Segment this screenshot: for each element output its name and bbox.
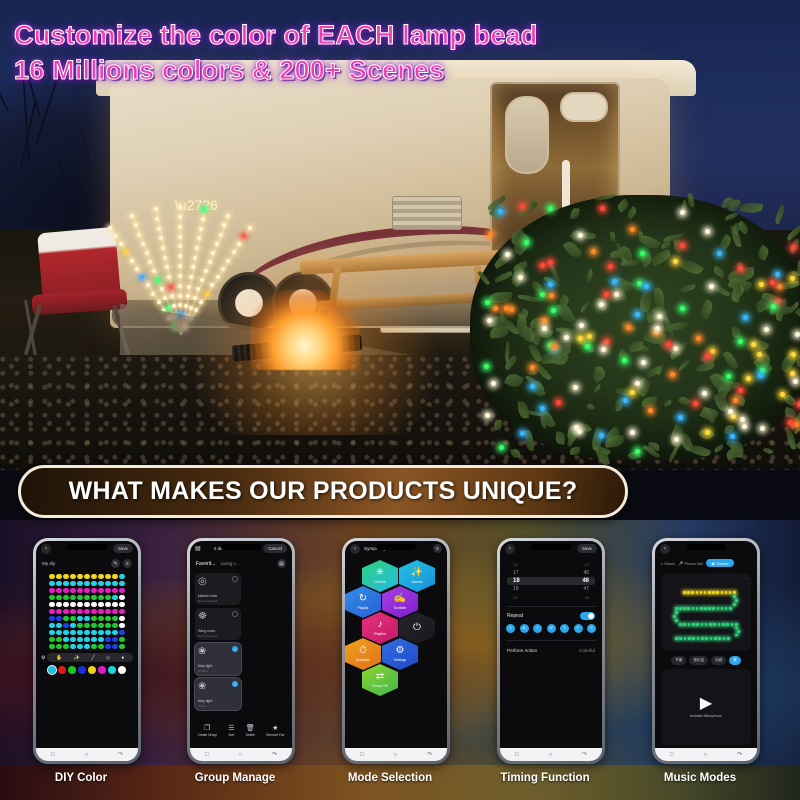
led-dot[interactable]	[119, 595, 124, 600]
led-dot[interactable]	[63, 581, 68, 586]
diy-title-row: My diy ✎ ≡	[36, 556, 138, 570]
nav-recent-icon[interactable]: □	[670, 752, 674, 758]
led-dot[interactable]	[112, 630, 117, 635]
led-dot[interactable]	[56, 602, 61, 607]
nav-home-icon[interactable]: ○	[393, 752, 397, 758]
led-dot[interactable]	[77, 630, 82, 635]
hex-settings[interactable]: ⚙Settings	[382, 638, 418, 670]
led-dot-row[interactable]	[49, 623, 124, 628]
tree-light-bulb	[141, 242, 145, 246]
action-create-group[interactable]: ❐Create Group	[198, 724, 217, 737]
nav-home-icon[interactable]: ○	[548, 752, 552, 758]
group-action-bar[interactable]: ❐Create Group☰Sort🗑Delete★Remove Fav	[190, 721, 292, 740]
led-dot-row[interactable]	[49, 588, 124, 593]
led-dot[interactable]	[56, 637, 61, 642]
led-dot[interactable]	[98, 581, 103, 586]
nav-home-icon[interactable]: ○	[703, 752, 707, 758]
led-dot[interactable]	[63, 644, 68, 649]
led-dot[interactable]	[119, 644, 124, 649]
hex-power[interactable]: ⏻	[399, 612, 435, 644]
led-dot[interactable]	[70, 574, 75, 579]
hex-playlist[interactable]: ↻Playlist	[345, 586, 381, 618]
led-dot[interactable]	[49, 602, 54, 607]
led-dot[interactable]	[84, 630, 89, 635]
led-dot[interactable]	[63, 595, 68, 600]
led-pixel	[688, 637, 691, 640]
cancel-button[interactable]: Cancel	[263, 544, 287, 553]
android-navbar[interactable]: □ ○ ↷	[655, 748, 757, 761]
led-dot[interactable]	[105, 609, 110, 614]
grid-options-icon[interactable]: ⋯	[743, 576, 748, 582]
weekday-chip[interactable]: F	[574, 624, 583, 633]
led-dot[interactable]	[105, 623, 110, 628]
string-light-bulb	[520, 431, 525, 436]
led-dot-grid[interactable]	[36, 570, 138, 651]
led-dot[interactable]	[49, 637, 54, 642]
led-pixel	[731, 623, 734, 626]
led-dot[interactable]	[77, 602, 82, 607]
led-dot-row[interactable]	[49, 609, 124, 614]
music-tab-phone-mic[interactable]: 🎤Phone Mic	[678, 561, 703, 566]
device-card-list[interactable]: ◎kitchen bulbNot connected☸living roomNo…	[190, 571, 292, 712]
led-dot[interactable]	[84, 574, 89, 579]
led-dot[interactable]	[56, 595, 61, 600]
music-tab-music[interactable]: ♫Music	[660, 561, 675, 566]
led-dot[interactable]	[84, 588, 89, 593]
led-dot[interactable]	[105, 630, 110, 635]
led-dot[interactable]	[70, 581, 75, 586]
led-dot[interactable]	[56, 588, 61, 593]
led-dot[interactable]	[105, 637, 110, 642]
device-checkbox[interactable]: ✓	[232, 646, 238, 652]
led-dot[interactable]	[49, 630, 54, 635]
led-dot[interactable]	[84, 595, 89, 600]
led-dot[interactable]	[105, 574, 110, 579]
led-dot[interactable]	[112, 574, 117, 579]
led-dot[interactable]	[105, 616, 110, 621]
led-dot[interactable]	[84, 609, 89, 614]
led-dot[interactable]	[105, 644, 110, 649]
hex-schedule[interactable]: ⏱Schedule	[345, 638, 381, 670]
nav-back-icon[interactable]: ↷	[118, 751, 123, 758]
led-dot[interactable]	[63, 574, 68, 579]
led-pixel	[675, 607, 678, 610]
led-dot[interactable]	[77, 588, 82, 593]
menu-icon[interactable]: ≡	[433, 544, 442, 553]
led-dot[interactable]	[112, 588, 117, 593]
led-pixel	[684, 637, 687, 640]
led-dot[interactable]	[91, 616, 96, 621]
hex-scribble[interactable]: ✍Scribble	[382, 586, 418, 618]
music-chip[interactable]: 音乐结	[689, 656, 708, 665]
weekday-selector[interactable]: SMTWTFS	[500, 622, 602, 637]
led-dot[interactable]	[119, 616, 124, 621]
menu-icon[interactable]: ≡	[123, 559, 132, 568]
picker-row-next[interactable]: 19 47	[507, 585, 595, 593]
string-light-bulb	[549, 293, 554, 298]
led-dot[interactable]	[91, 637, 96, 642]
picker-row-prev[interactable]: 17 45	[507, 568, 595, 576]
tree-light-bulb	[208, 260, 212, 264]
led-dot[interactable]	[91, 595, 96, 600]
tool-icon[interactable]: ✨	[74, 655, 80, 661]
string-light-bulb	[655, 326, 660, 331]
led-dot[interactable]	[77, 637, 82, 642]
music-chip[interactable]: 柔	[729, 656, 741, 665]
weekday-chip[interactable]: S	[506, 624, 515, 633]
led-dot[interactable]	[119, 609, 124, 614]
led-dot[interactable]	[70, 644, 75, 649]
led-dot[interactable]	[70, 623, 75, 628]
led-pixel	[701, 623, 704, 626]
nav-recent-icon[interactable]: □	[360, 752, 364, 758]
repeat-toggle[interactable]	[580, 612, 595, 620]
led-dot[interactable]	[77, 609, 82, 614]
string-light-bulb	[710, 349, 715, 354]
weekday-chip[interactable]: W	[547, 624, 556, 633]
back-icon[interactable]: ‹	[350, 544, 360, 554]
led-dot[interactable]	[91, 623, 96, 628]
weekday-chip[interactable]: T	[533, 624, 542, 633]
nav-home-icon[interactable]: ○	[238, 752, 242, 758]
nav-back-icon[interactable]: ↷	[737, 751, 742, 758]
bush-leaf	[586, 269, 595, 282]
device-checkbox[interactable]	[232, 576, 238, 582]
tab-living-room[interactable]: Living r...	[220, 561, 238, 566]
led-dot[interactable]	[49, 623, 54, 628]
edit-icon[interactable]: ✎	[111, 559, 120, 568]
led-dot[interactable]	[84, 602, 89, 607]
led-dot[interactable]	[56, 644, 61, 649]
led-dot[interactable]	[112, 616, 117, 621]
led-dot[interactable]	[84, 637, 89, 642]
led-dot[interactable]	[84, 581, 89, 586]
section-banner-wrap: WHAT MAKES OUR PRODUCTS UNIQUE?	[0, 455, 800, 535]
led-pixel	[735, 599, 738, 602]
led-dot[interactable]	[77, 595, 82, 600]
headline-line-1: Customize the color of EACH lamp bead	[14, 18, 537, 53]
nav-recent-icon[interactable]: □	[51, 752, 55, 758]
led-dot[interactable]	[91, 581, 96, 586]
led-dot[interactable]	[56, 609, 61, 614]
string-light-bulb	[771, 304, 776, 309]
tab-icon: ♫	[660, 561, 663, 566]
string-light-bulb	[726, 374, 731, 379]
music-mode-chips[interactable]: 节奏音乐结动感柔	[655, 654, 757, 667]
nav-recent-icon[interactable]: □	[515, 752, 519, 758]
hex-colorful[interactable]: ✳Colorful	[362, 560, 398, 592]
activate-microphone-panel[interactable]: ▶ Activate Microphone	[661, 669, 751, 745]
led-dot[interactable]	[119, 637, 124, 642]
led-dot[interactable]	[77, 623, 82, 628]
led-dot[interactable]	[49, 574, 54, 579]
color-swatch[interactable]	[108, 666, 116, 674]
color-swatch[interactable]	[98, 666, 106, 674]
led-dot[interactable]	[56, 630, 61, 635]
led-pixel	[716, 591, 719, 594]
hex-rhythm[interactable]: ♪Rhythm	[362, 612, 398, 644]
led-dot[interactable]	[98, 637, 103, 642]
led-dot[interactable]	[91, 630, 96, 635]
color-swatch[interactable]	[48, 666, 56, 674]
led-dot[interactable]	[70, 637, 75, 642]
led-dot[interactable]	[49, 616, 54, 621]
led-dot-row[interactable]	[49, 581, 124, 586]
string-light-bulb	[499, 445, 504, 450]
string-light-bulb	[540, 263, 545, 268]
led-dot-row[interactable]	[49, 574, 124, 579]
string-light-bulb	[578, 336, 583, 341]
string-light-bulb	[693, 401, 698, 406]
led-dot[interactable]	[56, 581, 61, 586]
tool-icon[interactable]: ●	[121, 655, 124, 661]
led-dot-row[interactable]	[49, 595, 124, 600]
string-light-bulb	[518, 275, 523, 280]
back-icon[interactable]: ‹	[505, 544, 515, 554]
led-dot[interactable]	[56, 616, 61, 621]
led-dot[interactable]	[98, 616, 103, 621]
led-dot[interactable]	[119, 630, 124, 635]
led-dot[interactable]	[63, 602, 68, 607]
grid-menu-icon[interactable]: ▤	[195, 545, 201, 552]
led-pixel	[683, 591, 686, 594]
led-pattern-preview[interactable]: ⋯	[661, 573, 751, 651]
led-dot[interactable]	[112, 609, 117, 614]
device-card[interactable]: ❀fairy lightOnline✓	[195, 678, 241, 710]
music-chip[interactable]: 节奏	[671, 656, 686, 665]
led-dot[interactable]	[63, 637, 68, 642]
led-dot[interactable]	[105, 595, 110, 600]
device-card[interactable]: ☸living roomNot connected	[195, 608, 241, 640]
color-swatch-row[interactable]	[36, 664, 138, 678]
led-dot[interactable]	[91, 574, 96, 579]
string-light-bulb	[573, 385, 578, 390]
led-dot[interactable]	[70, 616, 75, 621]
weekday-chip[interactable]: M	[520, 624, 529, 633]
minute-far-2: 48	[585, 595, 589, 600]
tree-light-bulb	[178, 215, 182, 219]
device-status: Not connected	[198, 599, 217, 603]
tab-label: Device	[716, 561, 728, 566]
string-light-bulb	[794, 422, 799, 427]
led-dot[interactable]	[119, 602, 124, 607]
device-checkbox[interactable]: ✓	[232, 681, 238, 687]
nav-home-icon[interactable]: ○	[84, 752, 88, 758]
color-swatch[interactable]	[68, 666, 76, 674]
hex-mode-grid[interactable]: ✳Colorful✨Scenes↻Playlist✍Scribble♪Rhyth…	[345, 556, 447, 748]
bush-leaf	[562, 239, 583, 261]
action-sort[interactable]: ☰Sort	[228, 724, 234, 737]
tool-icon[interactable]: ◇	[106, 655, 110, 661]
perform-action-row[interactable]: Perform Action Colorful	[500, 644, 602, 657]
bush-leaf	[678, 359, 692, 371]
save-button[interactable]: Save	[113, 544, 133, 553]
led-dot[interactable]	[63, 630, 68, 635]
picker-row-far-top[interactable]: 16 44	[507, 561, 595, 568]
music-source-tabs[interactable]: ♫Music🎤Phone Mic◉Device	[655, 556, 757, 570]
tool-icon[interactable]: ✋	[56, 655, 62, 661]
led-dot[interactable]	[105, 602, 110, 607]
action-delete[interactable]: 🗑Delete	[246, 724, 255, 737]
led-dot[interactable]	[91, 588, 96, 593]
led-dot[interactable]	[56, 623, 61, 628]
device-checkbox[interactable]	[232, 611, 238, 617]
led-dot[interactable]	[49, 588, 54, 593]
led-dot[interactable]	[112, 623, 117, 628]
bush-leaf	[645, 365, 662, 377]
list-view-icon[interactable]: ▤	[277, 559, 286, 568]
led-dot-row[interactable]	[49, 630, 124, 635]
led-dot[interactable]	[63, 588, 68, 593]
string-light-bulb	[509, 307, 514, 312]
bush-leaf	[518, 294, 541, 304]
string-light-bulb	[579, 323, 584, 328]
led-dot[interactable]	[84, 616, 89, 621]
led-dot[interactable]	[84, 623, 89, 628]
led-dot[interactable]	[77, 574, 82, 579]
led-dot[interactable]	[91, 609, 96, 614]
led-dot[interactable]	[98, 644, 103, 649]
string-light-bulb	[484, 364, 489, 369]
led-dot-row[interactable]	[49, 637, 124, 642]
led-dot[interactable]	[70, 588, 75, 593]
time-picker[interactable]: 16 44 17 45 18 46 19 47 20 48	[500, 556, 602, 603]
android-navbar[interactable]: □ ○ ↷	[190, 748, 292, 761]
led-dot[interactable]	[70, 609, 75, 614]
led-dot[interactable]	[91, 602, 96, 607]
device-card[interactable]: ◎kitchen bulbNot connected	[195, 573, 241, 605]
music-tab-device[interactable]: ◉Device	[706, 559, 733, 567]
string-light-bulb	[599, 302, 604, 307]
tree-light-bulb	[178, 294, 182, 298]
led-dot[interactable]	[77, 616, 82, 621]
led-dot[interactable]	[70, 602, 75, 607]
led-dot-row[interactable]	[49, 602, 124, 607]
screen-diy-color: ‹ Save My diy ✎ ≡ ⚙ ✋✨╱◇● □ ○ ↷	[36, 541, 138, 761]
led-dot[interactable]	[77, 581, 82, 586]
android-navbar[interactable]: □ ○ ↷	[500, 748, 602, 761]
led-dot[interactable]	[105, 581, 110, 586]
repeat-row[interactable]: Repeat	[500, 610, 602, 622]
led-dot[interactable]	[63, 616, 68, 621]
android-navbar[interactable]: □ ○ ↷	[345, 748, 447, 761]
led-dot[interactable]	[119, 581, 124, 586]
led-pixel	[710, 637, 713, 640]
led-pixel	[712, 607, 715, 610]
led-dot[interactable]	[63, 609, 68, 614]
hex-scenes[interactable]: ✨Scenes	[399, 560, 435, 592]
led-dot[interactable]	[112, 644, 117, 649]
picker-row-selected[interactable]: 18 46	[507, 577, 595, 585]
led-dot[interactable]	[49, 595, 54, 600]
string-light-bulb	[548, 206, 553, 211]
nav-back-icon[interactable]: ↷	[427, 751, 432, 758]
picker-row-far-bottom[interactable]: 20 48	[507, 594, 595, 601]
led-dot[interactable]	[49, 644, 54, 649]
led-dot[interactable]	[98, 623, 103, 628]
color-swatch[interactable]	[58, 666, 66, 674]
play-icon[interactable]: ▶	[700, 696, 712, 712]
music-chip[interactable]: 动感	[711, 656, 726, 665]
diy-title: My diy	[42, 561, 55, 566]
settings-icon[interactable]: ⚙	[41, 655, 45, 661]
led-pixel	[700, 591, 703, 594]
tree-light-bulb	[195, 246, 199, 250]
bush-leaf	[713, 444, 724, 453]
tool-icon[interactable]: ╱	[92, 655, 95, 661]
led-dot[interactable]	[112, 595, 117, 600]
back-icon[interactable]: ‹	[41, 544, 51, 554]
nav-back-icon[interactable]: ↷	[582, 751, 587, 758]
weekday-chip[interactable]: S	[587, 624, 596, 633]
tree-light-bulb	[186, 294, 190, 298]
led-dot[interactable]	[98, 602, 103, 607]
led-pixel	[704, 591, 707, 594]
led-dot[interactable]	[98, 630, 103, 635]
led-dot[interactable]	[105, 588, 110, 593]
led-dot[interactable]	[63, 623, 68, 628]
led-dot-row[interactable]	[49, 644, 124, 649]
led-dot[interactable]	[119, 623, 124, 628]
string-light-bulb	[630, 227, 635, 232]
led-dot[interactable]	[112, 637, 117, 642]
led-dot[interactable]	[56, 574, 61, 579]
led-dot[interactable]	[98, 595, 103, 600]
led-dot[interactable]	[91, 644, 96, 649]
led-dot[interactable]	[49, 609, 54, 614]
led-dot[interactable]	[49, 581, 54, 586]
hour-far: 16	[513, 562, 517, 567]
minute-next: 47	[583, 586, 589, 592]
action-remove-fav[interactable]: ★Remove Fav	[266, 724, 284, 737]
tree-light-bulb	[167, 275, 171, 279]
hex-group-ctrl[interactable]: ⇄Group Ctrl	[362, 664, 398, 696]
led-dot[interactable]	[77, 644, 82, 649]
led-dot[interactable]	[112, 581, 117, 586]
led-dot-row[interactable]	[49, 616, 124, 621]
led-dot[interactable]	[98, 588, 103, 593]
caption-mode-selection: Mode Selection	[310, 772, 470, 784]
back-icon[interactable]: ‹	[660, 544, 670, 554]
string-light-bulb	[587, 334, 592, 339]
color-swatch[interactable]	[88, 666, 96, 674]
led-dot[interactable]	[112, 602, 117, 607]
led-dot[interactable]	[70, 630, 75, 635]
group-tabs[interactable]: Favorit... Living r... ▤	[190, 556, 292, 571]
weekday-chip[interactable]: T	[560, 624, 569, 633]
string-light-bulb	[556, 400, 561, 405]
led-dot[interactable]	[98, 574, 103, 579]
minute-prev: 45	[583, 570, 589, 576]
tree-light-bulb	[108, 226, 112, 230]
led-dot[interactable]	[98, 609, 103, 614]
hex-label: Rhythm	[374, 632, 386, 636]
led-dot[interactable]	[84, 644, 89, 649]
color-swatch[interactable]	[118, 666, 126, 674]
led-dot[interactable]	[119, 588, 124, 593]
device-card[interactable]: ❀fairy lightRGBIC✓	[195, 643, 241, 675]
color-swatch[interactable]	[78, 666, 86, 674]
led-dot[interactable]	[70, 595, 75, 600]
save-button[interactable]: Save	[577, 544, 597, 553]
nav-back-icon[interactable]: ↷	[272, 751, 277, 758]
nav-recent-icon[interactable]: □	[205, 752, 209, 758]
led-dot[interactable]	[119, 574, 124, 579]
tab-favorites[interactable]: Favorit...	[196, 561, 215, 567]
tree-light-bulb	[178, 225, 182, 229]
tool-pill[interactable]: ✋✨╱◇●	[47, 653, 133, 662]
android-navbar[interactable]: □ ○ ↷	[36, 748, 138, 761]
